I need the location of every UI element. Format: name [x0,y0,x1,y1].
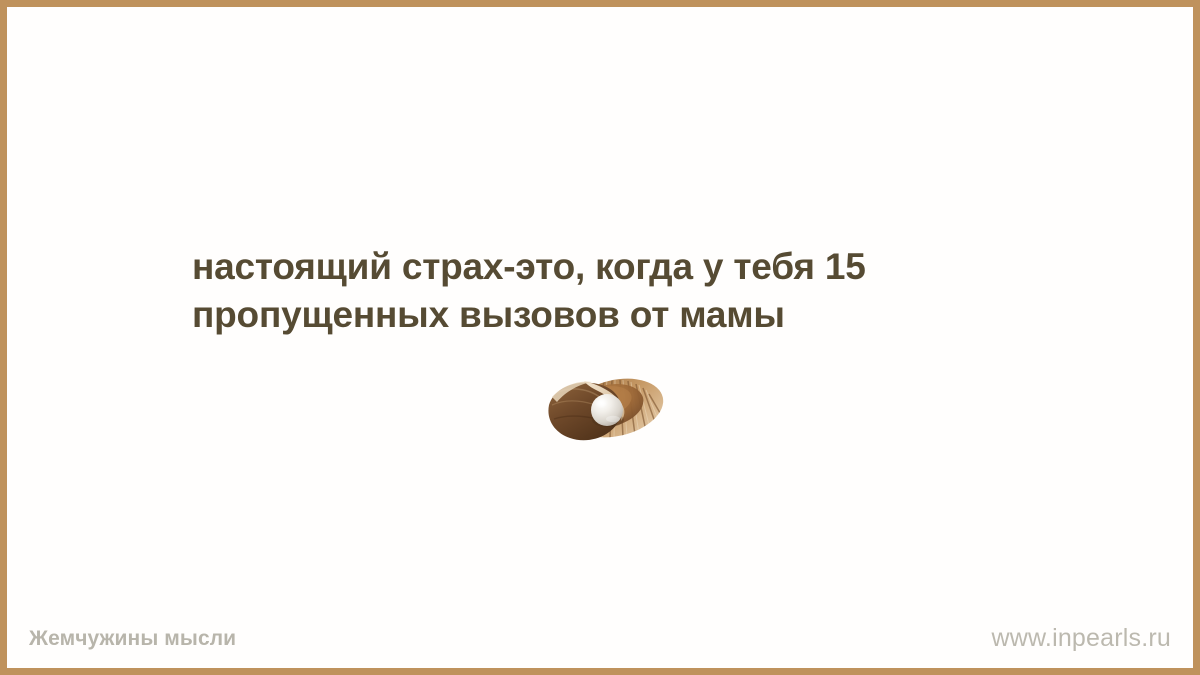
quote-text-block: настоящий страх-это, когда у тебя 15 про… [192,243,1032,339]
oyster-shell-with-pearl-icon [546,375,670,447]
site-url-link[interactable]: www.inpearls.ru [992,624,1171,653]
quote-line-1: настоящий страх-это, когда у тебя 15 [192,243,1032,291]
quote-line-2: пропущенных вызовов от мамы [192,291,1032,339]
quote-card: настоящий страх-это, когда у тебя 15 про… [0,0,1200,675]
brand-label: Жемчужины мысли [29,627,236,651]
